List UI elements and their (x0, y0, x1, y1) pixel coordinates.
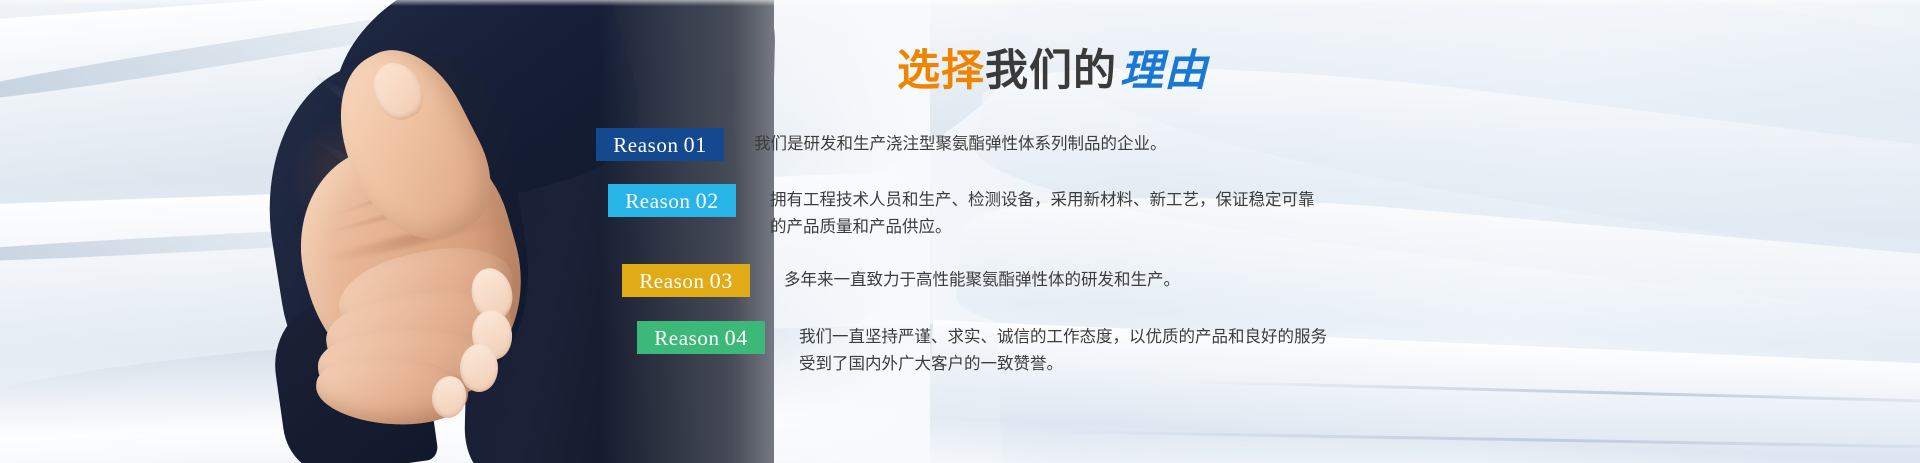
reason-badge-label: Reason (613, 133, 678, 157)
reason-badge-number: 02 (691, 188, 719, 213)
reason-list: Reason01我们是研发和生产浇注型聚氨酯弹性体系列制品的企业。Reason0… (0, 128, 1920, 378)
reason-badge-label: Reason (654, 326, 719, 350)
title-segment-dark: 我们的 (985, 47, 1117, 95)
reason-badge-number: 01 (679, 132, 707, 157)
reason-badge-01[interactable]: Reason01 (596, 128, 724, 161)
reason-badge-number: 04 (720, 325, 748, 350)
reason-badge-03[interactable]: Reason03 (622, 264, 750, 297)
reason-badge-04[interactable]: Reason04 (637, 321, 765, 354)
title-segment-accent: 理由 (1117, 47, 1208, 95)
reason-description: 多年来一直致力于高性能聚氨酯弹性体的研发和生产。 (784, 264, 1180, 294)
reason-description: 拥有工程技术人员和生产、检测设备，采用新材料、新工艺，保证稳定可靠 的产品质量和… (770, 184, 1315, 241)
reason-item-03: Reason03多年来一直致力于高性能聚氨酯弹性体的研发和生产。 (0, 264, 1920, 297)
title-segment-highlight: 选择 (897, 47, 985, 95)
reason-item-01: Reason01我们是研发和生产浇注型聚氨酯弹性体系列制品的企业。 (0, 128, 1920, 161)
reason-description: 我们一直坚持严谨、求实、诚信的工作态度，以优质的产品和良好的服务 受到了国内外广… (799, 321, 1327, 378)
reason-badge-label: Reason (639, 269, 704, 293)
reason-badge-number: 03 (705, 268, 733, 293)
reason-item-04: Reason04我们一直坚持严谨、求实、诚信的工作态度，以优质的产品和良好的服务… (0, 321, 1920, 378)
reason-badge-02[interactable]: Reason02 (608, 184, 736, 217)
reason-badge-label: Reason (625, 189, 690, 213)
promo-banner: 选择我们的理由 Reason01我们是研发和生产浇注型聚氨酯弹性体系列制品的企业… (0, 0, 1920, 463)
banner-content: 选择我们的理由 Reason01我们是研发和生产浇注型聚氨酯弹性体系列制品的企业… (0, 0, 1920, 463)
page-title: 选择我们的理由 (897, 48, 1208, 95)
reason-item-02: Reason02拥有工程技术人员和生产、检测设备，采用新材料、新工艺，保证稳定可… (0, 184, 1920, 241)
reason-description: 我们是研发和生产浇注型聚氨酯弹性体系列制品的企业。 (754, 128, 1167, 158)
